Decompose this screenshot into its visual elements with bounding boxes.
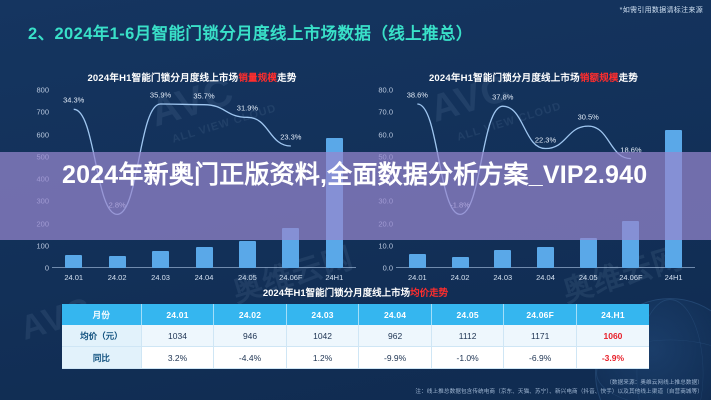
chart-left-xtick-4: 24.05: [238, 273, 257, 282]
chart-left-ytick-3: 500: [22, 152, 49, 161]
table-header-col-2: 24.03: [286, 304, 359, 325]
footer-data-source: （数据来源：奥维云网线上推总数据）: [606, 378, 703, 386]
chart-right-title-highlight: 销额规模: [580, 73, 619, 84]
chart-left-plot-area: 800700600500400300200100024.0124.0224.03…: [52, 90, 356, 268]
chart-left-title-highlight: 销量规模: [238, 73, 277, 84]
chart-left-ytick-2: 600: [22, 130, 49, 139]
avg-price-6: 1060: [576, 325, 649, 347]
table-header-col-4: 24.05: [431, 304, 504, 325]
yoy-4: -1.0%: [431, 347, 504, 369]
chart-sales-volume: 2024年H1智能门锁分月度线上市场销量规模走势 800700600500400…: [22, 70, 362, 280]
chart-left-ytick-6: 200: [22, 219, 49, 228]
chart-left-title-prefix: 2024年H1智能门锁分月度线上市场: [87, 73, 238, 84]
footer-note: 注：线上推总数据包含传统电商（京东、天猫、苏宁）、新兴电商（抖音、快手）以及其他…: [415, 387, 703, 395]
chart-right-ytick-5: 30.0: [366, 197, 393, 206]
table-title: 2024年H1智能门锁分月度线上市场均价走势: [62, 285, 649, 299]
chart-left-title: 2024年H1智能门锁分月度线上市场销量规模走势: [22, 70, 362, 84]
table-title-prefix: 2024年H1智能门锁分月度线上市场: [263, 288, 410, 299]
average-price-table: 月份 24.01 24.02 24.03 24.04 24.05 24.06F …: [62, 304, 649, 369]
table-header-col-5: 24.06F: [504, 304, 577, 325]
table-header-col-6: 24.H1: [576, 304, 649, 325]
table-title-highlight: 均价走势: [410, 288, 448, 299]
avg-price-4: 1112: [431, 325, 504, 347]
chart-left-point-label-5: 23.3%: [280, 133, 301, 142]
chart-right-title: 2024年H1智能门锁分月度线上市场销额规模走势: [366, 70, 701, 84]
row-label-avg-price: 均价（元）: [62, 325, 141, 347]
chart-left-xtick-3: 24.04: [195, 273, 214, 282]
average-price-table-block: 2024年H1智能门锁分月度线上市场均价走势 月份 24.01 24.02 24…: [62, 285, 649, 369]
avg-price-2: 1042: [286, 325, 359, 347]
chart-left-xtick-2: 24.03: [151, 273, 170, 282]
chart-right-ytick-1: 70.0: [366, 108, 393, 117]
table-header-col-0: 24.01: [141, 304, 214, 325]
yoy-0: 3.2%: [141, 347, 214, 369]
avg-price-0: 1034: [141, 325, 214, 347]
chart-right-xtick-1: 24.02: [451, 273, 470, 282]
chart-right-xtick-3: 24.04: [536, 273, 555, 282]
chart-right-point-label-5: 18.6%: [620, 145, 641, 154]
chart-left-xtick-0: 24.01: [64, 273, 83, 282]
chart-right-xtick-4: 24.05: [579, 273, 598, 282]
chart-right-ytick-4: 40.0: [366, 175, 393, 184]
chart-sales-value: 2024年H1智能门锁分月度线上市场销额规模走势 80.070.060.050.…: [366, 70, 701, 280]
chart-right-ytick-0: 80.0: [366, 86, 393, 95]
table-header-row: 月份 24.01 24.02 24.03 24.04 24.05 24.06F …: [62, 304, 649, 325]
chart-left-ytick-4: 400: [22, 175, 49, 184]
chart-right-xtick-0: 24.01: [408, 273, 427, 282]
yoy-1: -4.4%: [214, 347, 287, 369]
row-label-yoy: 同比: [62, 347, 141, 369]
table-row: 均价（元） 1034 946 1042 962 1112 1171 1060: [62, 325, 649, 347]
chart-left-ytick-5: 300: [22, 197, 49, 206]
chart-right-point-label-1: -1.8%: [450, 201, 470, 210]
chart-right-ytick-8: 0.0: [366, 264, 393, 273]
yoy-5: -6.9%: [504, 347, 577, 369]
yoy-3: -9.9%: [359, 347, 432, 369]
chart-left-point-label-3: 35.7%: [193, 91, 214, 100]
chart-right-plot-area: 80.070.060.050.040.030.020.010.00.024.01…: [396, 90, 695, 268]
yoy-2: 1.2%: [286, 347, 359, 369]
table-header-col-3: 24.04: [359, 304, 432, 325]
avg-price-5: 1171: [504, 325, 577, 347]
source-note: *如需引用数据请标注来源: [620, 5, 703, 15]
chart-right-ytick-3: 50.0: [366, 152, 393, 161]
chart-right-xtick-5: 24.06F: [619, 273, 642, 282]
chart-left-point-label-0: 34.3%: [63, 96, 84, 105]
chart-right-point-label-3: 22.3%: [535, 135, 556, 144]
chart-left-ytick-7: 100: [22, 241, 49, 250]
chart-right-trend-line: [396, 90, 695, 268]
table-header-month-label: 月份: [62, 304, 141, 325]
table-header-col-1: 24.02: [214, 304, 287, 325]
chart-left-xtick-1: 24.02: [108, 273, 127, 282]
chart-right-ytick-2: 60.0: [366, 130, 393, 139]
chart-right-ytick-7: 10.0: [366, 241, 393, 250]
table-row: 同比 3.2% -4.4% 1.2% -9.9% -1.0% -6.9% -3.…: [62, 347, 649, 369]
chart-left-trend-line: [52, 90, 356, 268]
chart-right-xtick-6: 24H1: [665, 273, 683, 282]
chart-left-point-label-2: 35.9%: [150, 91, 171, 100]
chart-right-point-label-4: 30.5%: [578, 113, 599, 122]
chart-left-ytick-8: 0: [22, 264, 49, 273]
chart-left-point-label-4: 31.9%: [237, 104, 258, 113]
chart-left-xtick-6: 24H1: [325, 273, 343, 282]
chart-right-title-suffix: 走势: [619, 73, 638, 84]
chart-left-title-suffix: 走势: [277, 73, 296, 84]
chart-right-title-prefix: 2024年H1智能门锁分月度线上市场: [429, 73, 580, 84]
slide-canvas: AVC ALL VIEW CLOUD AVC ALL VIEW CLOUD 奥维…: [0, 0, 711, 400]
chart-right-ytick-6: 20.0: [366, 219, 393, 228]
chart-left-point-label-1: 2.8%: [109, 201, 126, 210]
chart-right-point-label-0: 38.6%: [407, 91, 428, 100]
chart-left-ytick-0: 800: [22, 86, 49, 95]
avg-price-1: 946: [214, 325, 287, 347]
avg-price-3: 962: [359, 325, 432, 347]
chart-right-xtick-2: 24.03: [493, 273, 512, 282]
page-title: 2、2024年1-6月智能门锁分月度线上市场数据（线上推总）: [28, 20, 473, 44]
yoy-6: -3.9%: [576, 347, 649, 369]
chart-left-xtick-5: 24.06F: [279, 273, 302, 282]
chart-left-ytick-1: 700: [22, 108, 49, 117]
chart-right-point-label-2: 37.8%: [492, 93, 513, 102]
